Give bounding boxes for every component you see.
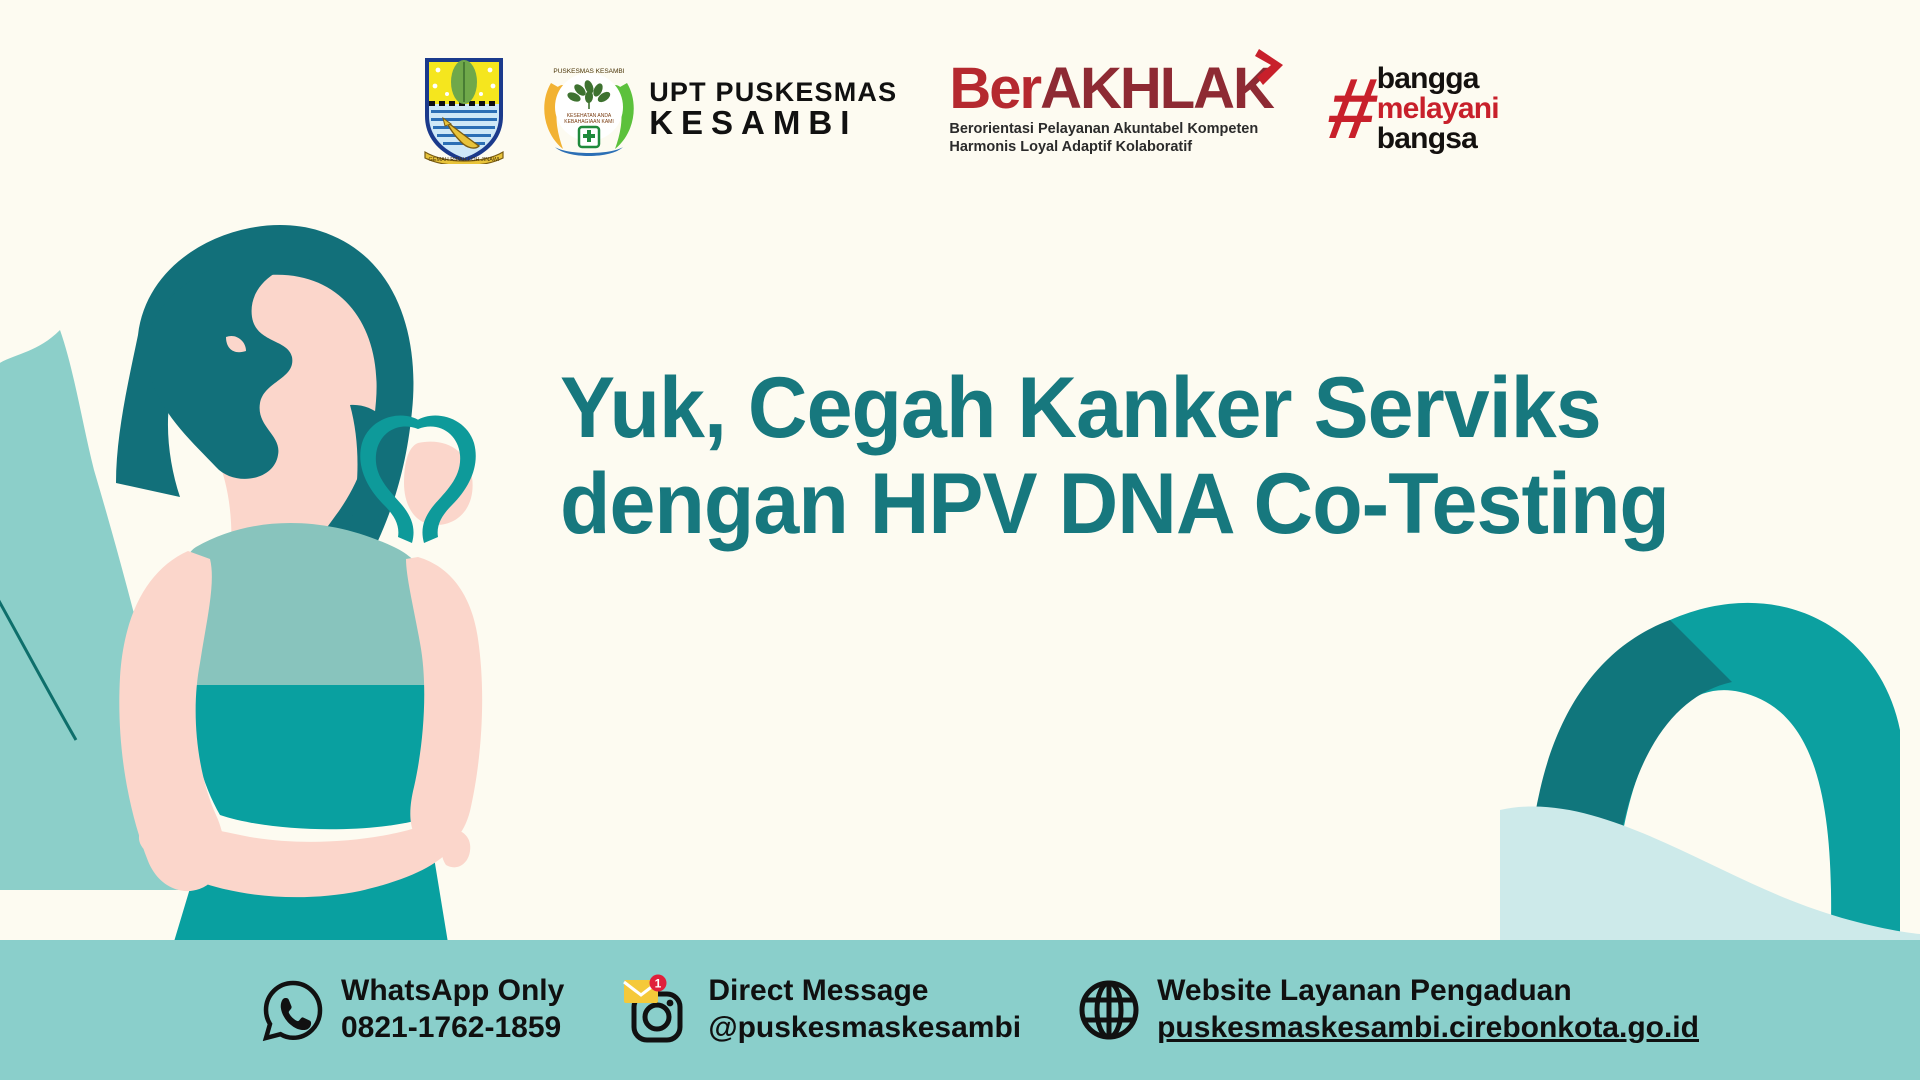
contact-instagram-text: Direct Message @puskesmaskesambi [708,973,1021,1046]
berakhlak-tagline-line1: Berorientasi Pelayanan Akuntabel Kompete… [949,120,1273,139]
bangga-line-2: melayani [1377,94,1499,124]
large-teal-ribbon-decoration [1500,560,1920,960]
chevron-right-icon [1255,47,1289,87]
upt-line-2: KESAMBI [649,106,897,140]
svg-text:PUSKESMAS KESAMBI: PUSKESMAS KESAMBI [554,68,625,75]
hashtag-icon: # [1323,75,1378,144]
contact-website[interactable]: Website Layanan Pengaduan puskesmaskesam… [1077,973,1699,1046]
bangga-line-1: bangga [1377,64,1499,94]
contact-website-label: Website Layanan Pengaduan [1157,973,1699,1010]
contact-instagram-value: @puskesmaskesambi [708,1010,1021,1047]
contact-website-text: Website Layanan Pengaduan puskesmaskesam… [1157,973,1699,1046]
instagram-direct-message-icon: 1 [620,974,692,1046]
berakhlak-tagline: Berorientasi Pelayanan Akuntabel Kompete… [949,120,1273,157]
globe-icon [1077,978,1141,1042]
crest-logo: GEMAH RIPAH LOH JINAWI [421,54,507,164]
contact-whatsapp-label: WhatsApp Only [341,973,564,1010]
contact-instagram-label: Direct Message [708,973,1021,1010]
berakhlak-tagline-line2: Harmonis Loyal Adaptif Kolaboratif [949,138,1273,157]
contact-website-value[interactable]: puskesmaskesambi.cirebonkota.go.id [1157,1010,1699,1047]
woman-with-teal-ribbon-illustration [20,215,580,955]
berakhlak-ber: Ber [949,56,1040,121]
headline-line-1: Yuk, Cegah Kanker Serviks [560,360,1601,456]
svg-text:KEBAHAGIAAN KAMI: KEBAHAGIAAN KAMI [564,119,613,125]
contact-whatsapp-value: 0821-1762-1859 [341,1010,564,1047]
bangga-text-block: bangga melayani bangsa [1377,64,1499,154]
contact-whatsapp-text: WhatsApp Only 0821-1762-1859 [341,973,564,1046]
bangga-melayani-bangsa-logo: # bangga melayani bangsa [1329,64,1499,154]
upt-text-block: UPT PUSKESMAS KESAMBI [649,78,897,140]
footer-contacts: WhatsApp Only 0821-1762-1859 1 Direct Me… [0,940,1920,1080]
instagram-badge-count: 1 [655,977,662,991]
poster-canvas: GEMAH RIPAH LOH JINAWI P [0,0,1920,1080]
berakhlak-akhlak: AKHLAK [1040,56,1273,121]
upt-line-1: UPT PUSKESMAS [649,78,897,106]
whatsapp-icon [261,978,325,1042]
logo-strip: GEMAH RIPAH LOH JINAWI P [0,54,1920,164]
cirebon-city-crest-icon: GEMAH RIPAH LOH JINAWI [421,54,507,164]
headline-line-2: dengan HPV DNA Co-Testing [560,456,1750,552]
contact-instagram[interactable]: 1 Direct Message @puskesmaskesambi [620,973,1021,1046]
berakhlak-wordmark: BerAKHLAK [949,61,1273,116]
berakhlak-logo: BerAKHLAK Berorientasi Pelayanan Akuntab… [949,61,1273,156]
puskesmas-logo-group: PUSKESMAS KESAMBI KESEHATAN ANDA KEBAHAG… [537,57,897,161]
page-title: Yuk, Cegah Kanker Serviks dengan HPV DNA… [560,360,1750,553]
puskesmas-kesambi-logo-icon: PUSKESMAS KESAMBI KESEHATAN ANDA KEBAHAG… [537,57,641,161]
bangga-line-3: bangsa [1377,124,1499,154]
contact-whatsapp[interactable]: WhatsApp Only 0821-1762-1859 [261,973,564,1046]
svg-text:GEMAH RIPAH LOH JINAWI: GEMAH RIPAH LOH JINAWI [429,157,500,163]
